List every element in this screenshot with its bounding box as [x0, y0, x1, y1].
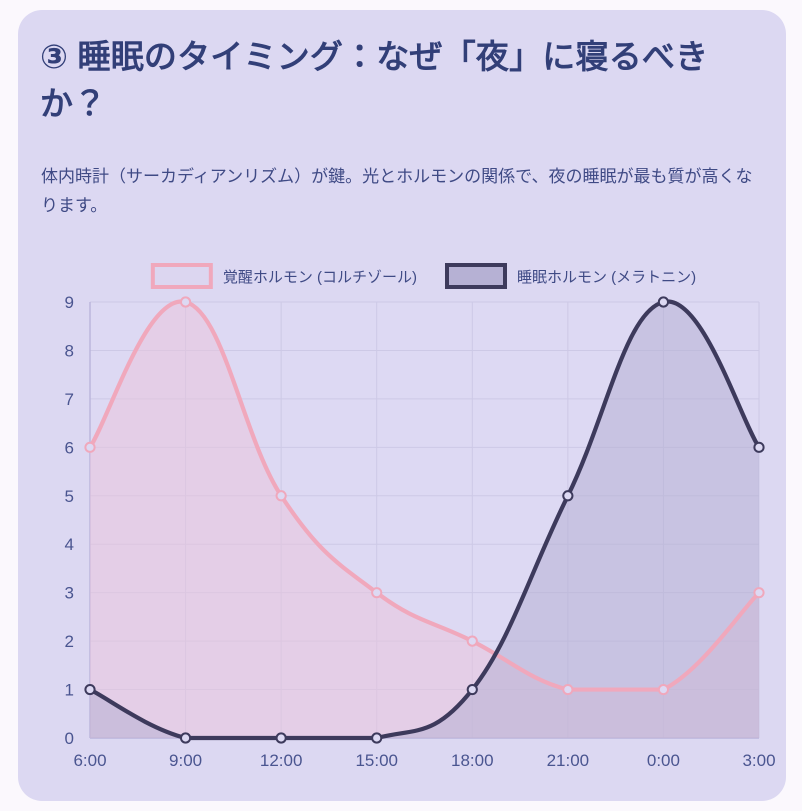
data-point[interactable] — [563, 491, 572, 500]
data-point[interactable] — [277, 733, 286, 742]
data-point[interactable] — [372, 588, 381, 597]
data-point[interactable] — [181, 297, 190, 306]
x-tick-label: 6:00 — [73, 751, 106, 770]
data-point[interactable] — [563, 685, 572, 694]
x-axis-tick-labels: 6:009:0012:0015:0018:0021:000:003:00 — [73, 751, 775, 770]
data-point[interactable] — [659, 297, 668, 306]
data-point[interactable] — [754, 443, 763, 452]
y-tick-label: 1 — [65, 681, 74, 700]
y-tick-label: 8 — [65, 341, 74, 360]
data-point[interactable] — [754, 588, 763, 597]
x-tick-label: 21:00 — [547, 751, 590, 770]
data-point[interactable] — [85, 443, 94, 452]
y-tick-label: 4 — [65, 535, 74, 554]
legend-item-1[interactable]: 睡眠ホルモン (メラトニン) — [447, 265, 696, 287]
legend-label: 覚醒ホルモン (コルチゾール) — [223, 269, 417, 286]
data-point[interactable] — [181, 733, 190, 742]
x-tick-label: 12:00 — [260, 751, 303, 770]
y-tick-label: 7 — [65, 390, 74, 409]
data-point[interactable] — [372, 733, 381, 742]
y-tick-label: 6 — [65, 438, 74, 457]
chart-svg: 覚醒ホルモン (コルチゾール)睡眠ホルモン (メラトニン) 0123456789… — [18, 248, 786, 793]
hormone-chart: 覚醒ホルモン (コルチゾール)睡眠ホルモン (メラトニン) 0123456789… — [18, 248, 786, 793]
legend-label: 睡眠ホルモン (メラトニン) — [517, 269, 696, 286]
sleep-timing-card: ③ 睡眠のタイミング：なぜ「夜」に寝るべきか？ 体内時計（サーカディアンリズム）… — [18, 10, 786, 801]
legend-swatch — [153, 265, 211, 287]
x-tick-label: 9:00 — [169, 751, 202, 770]
y-tick-label: 5 — [65, 487, 74, 506]
y-tick-label: 9 — [65, 293, 74, 312]
legend-swatch — [447, 265, 505, 287]
y-tick-label: 2 — [65, 632, 74, 651]
data-point[interactable] — [468, 685, 477, 694]
data-point[interactable] — [659, 685, 668, 694]
page-title: ③ 睡眠のタイミング：なぜ「夜」に寝るべきか？ — [40, 34, 752, 128]
chart-legend: 覚醒ホルモン (コルチゾール)睡眠ホルモン (メラトニン) — [153, 265, 696, 287]
x-tick-label: 0:00 — [647, 751, 680, 770]
y-tick-label: 3 — [65, 584, 74, 603]
x-tick-label: 18:00 — [451, 751, 494, 770]
data-point[interactable] — [277, 491, 286, 500]
legend-item-0[interactable]: 覚醒ホルモン (コルチゾール) — [153, 265, 417, 287]
y-axis-tick-labels: 0123456789 — [65, 293, 74, 748]
x-tick-label: 15:00 — [355, 751, 398, 770]
data-point[interactable] — [468, 637, 477, 646]
x-tick-label: 3:00 — [742, 751, 775, 770]
y-tick-label: 0 — [65, 729, 74, 748]
page-subtitle: 体内時計（サーカディアンリズム）が鍵。光とホルモンの関係で、夜の睡眠が最も質が高… — [41, 162, 759, 220]
data-point[interactable] — [85, 685, 94, 694]
